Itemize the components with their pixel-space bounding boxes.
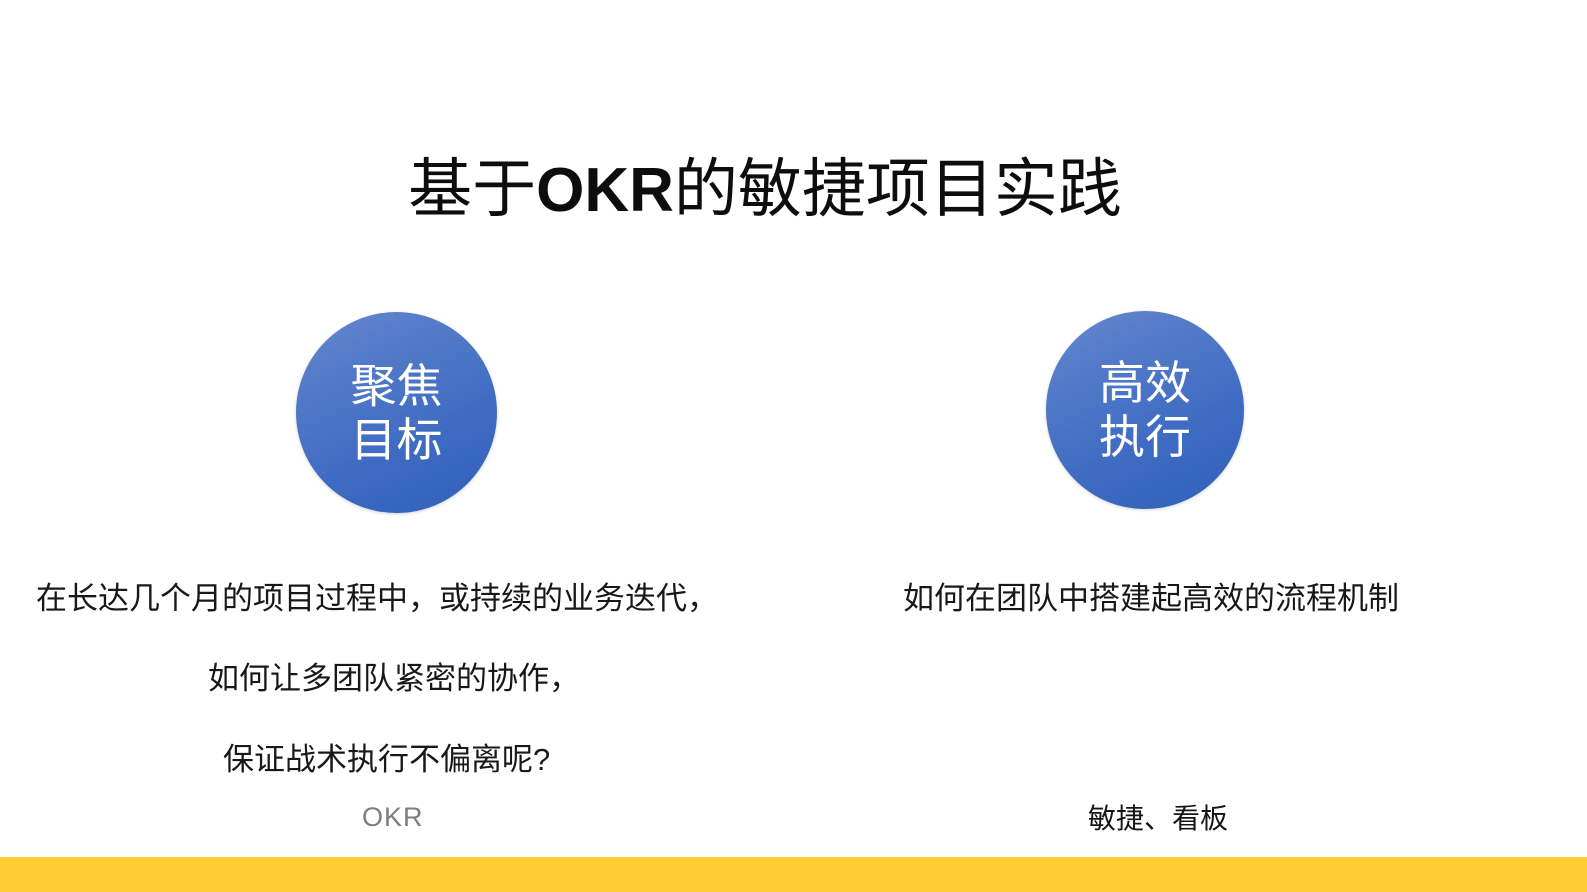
- title-suffix-text: 的敏捷项目实践: [674, 154, 1122, 225]
- circle-focus-line-1: 聚焦: [351, 359, 443, 413]
- left-column-line-3: 保证战术执行不偏离呢?: [223, 740, 550, 780]
- left-column-line-1: 在长达几个月的项目过程中，或持续的业务迭代，: [36, 579, 718, 619]
- circle-exec-line-1: 高效: [1099, 356, 1191, 410]
- left-column-line-2: 如何让多团队紧密的协作，: [208, 659, 580, 699]
- circle-badge-focus: 聚焦 目标: [296, 312, 497, 513]
- bottom-accent-bar: [0, 857, 1587, 892]
- circle-focus-line-2: 目标: [351, 413, 443, 467]
- right-column-line-1: 如何在团队中搭建起高效的流程机制: [903, 579, 1399, 619]
- presentation-slide: 基于OKR的敏捷项目实践 聚焦 目标 高效 执行 在长达几个月的项目过程中，或持…: [0, 0, 1587, 892]
- page-title: 基于OKR的敏捷项目实践: [0, 148, 1530, 233]
- left-column-caption: OKR: [362, 800, 424, 834]
- title-prefix-text: 基于: [408, 154, 536, 225]
- right-column-caption: 敏捷、看板: [1088, 802, 1228, 836]
- circle-badge-execution: 高效 执行: [1046, 311, 1244, 509]
- title-latin-text: OKR: [536, 156, 674, 225]
- circle-exec-line-2: 执行: [1099, 410, 1191, 464]
